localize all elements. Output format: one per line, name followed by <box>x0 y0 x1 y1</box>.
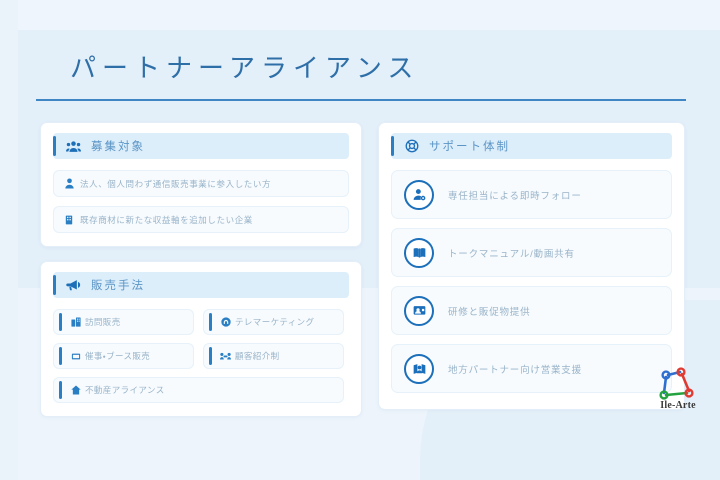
user-gear-icon <box>404 180 434 210</box>
header-accent-bar <box>53 275 56 295</box>
header-accent-bar <box>53 136 56 156</box>
card-sales-methods: 販売手法 <box>40 261 362 417</box>
card-title: 募集対象 <box>91 138 145 154</box>
method-item[interactable]: 顧客紹介制 <box>203 343 344 369</box>
home-icon <box>70 385 81 396</box>
lifebuoy-icon <box>404 139 419 154</box>
title-divider <box>36 99 686 101</box>
method-accent-bar <box>59 313 62 331</box>
handshake-icon <box>220 351 231 362</box>
brand-logo: Ile-Arte <box>648 366 708 411</box>
list-item[interactable]: 既存商材に新たな収益軸を追加したい企業 <box>53 206 349 233</box>
list-item-label: 既存商材に新たな収益軸を追加したい企業 <box>80 214 253 226</box>
ile-arte-triangle-icon <box>655 366 701 402</box>
page-title: パートナーアライアンス <box>70 52 686 85</box>
support-item-label: 専任担当による即時フォロー <box>448 188 582 202</box>
method-accent-bar <box>59 381 62 399</box>
map-user-icon <box>404 354 434 384</box>
method-item[interactable]: 催事・ブース販売 <box>53 343 194 369</box>
support-item-label: トークマニュアル/動画共有 <box>448 246 575 260</box>
header-accent-bar <box>391 136 394 156</box>
list-item-label: 法人、個人問わず通信販売事業に参入したい方 <box>80 178 271 190</box>
building-icon <box>70 317 81 328</box>
card-header-support-system: サポート体制 <box>391 133 672 159</box>
left-column: 募集対象 法人、個人問わず通信販売事業に参入したい方 <box>40 122 362 417</box>
card-header-sales-methods: 販売手法 <box>53 272 349 298</box>
method-item[interactable]: 不動産アライアンス <box>53 377 344 403</box>
book-icon <box>404 238 434 268</box>
title-block: パートナーアライアンス <box>36 52 686 101</box>
support-item[interactable]: トークマニュアル/動画共有 <box>391 228 672 277</box>
users-icon <box>66 139 81 154</box>
megaphone-icon <box>66 278 81 293</box>
method-label: 訪問販売 <box>85 316 121 328</box>
background-top-strip <box>0 0 720 30</box>
card-title: 販売手法 <box>91 277 145 293</box>
support-item[interactable]: 地方パートナー向け営業支援 <box>391 344 672 393</box>
background-left-edge <box>0 0 18 480</box>
card-target-audience: 募集対象 法人、個人問わず通信販売事業に参入したい方 <box>40 122 362 247</box>
logo-wordmark: Ile-Arte <box>648 400 708 411</box>
support-item[interactable]: 研修と販促物提供 <box>391 286 672 335</box>
method-label: テレマーケティング <box>235 316 314 328</box>
card-header-target-audience: 募集対象 <box>53 133 349 159</box>
method-item[interactable]: テレマーケティング <box>203 309 344 335</box>
presentation-icon <box>404 296 434 326</box>
headset-icon <box>220 317 231 328</box>
booth-icon <box>70 351 81 362</box>
method-accent-bar <box>59 347 62 365</box>
method-label: 不動産アライアンス <box>85 384 165 396</box>
support-item[interactable]: 専任担当による即時フォロー <box>391 170 672 219</box>
list-item[interactable]: 法人、個人問わず通信販売事業に参入したい方 <box>53 170 349 197</box>
person-icon <box>64 178 74 189</box>
right-column: サポート体制 専任担当による即時フォロー <box>378 122 685 410</box>
support-item-label: 地方パートナー向け営業支援 <box>448 362 582 376</box>
building-block-icon <box>64 214 74 225</box>
method-item[interactable]: 訪問販売 <box>53 309 194 335</box>
card-title: サポート体制 <box>429 138 510 154</box>
method-accent-bar <box>209 347 212 365</box>
card-support-system: サポート体制 専任担当による即時フォロー <box>378 122 685 410</box>
method-accent-bar <box>209 313 212 331</box>
content-columns: 募集対象 法人、個人問わず通信販売事業に参入したい方 <box>40 122 685 417</box>
sales-methods-grid: 訪問販売 テレマーケティング <box>53 309 349 403</box>
support-item-label: 研修と販促物提供 <box>448 304 530 318</box>
method-label: 顧客紹介制 <box>235 350 280 362</box>
slide-canvas: パートナーアライアンス <box>0 0 720 480</box>
method-label: 催事・ブース販売 <box>85 350 150 362</box>
